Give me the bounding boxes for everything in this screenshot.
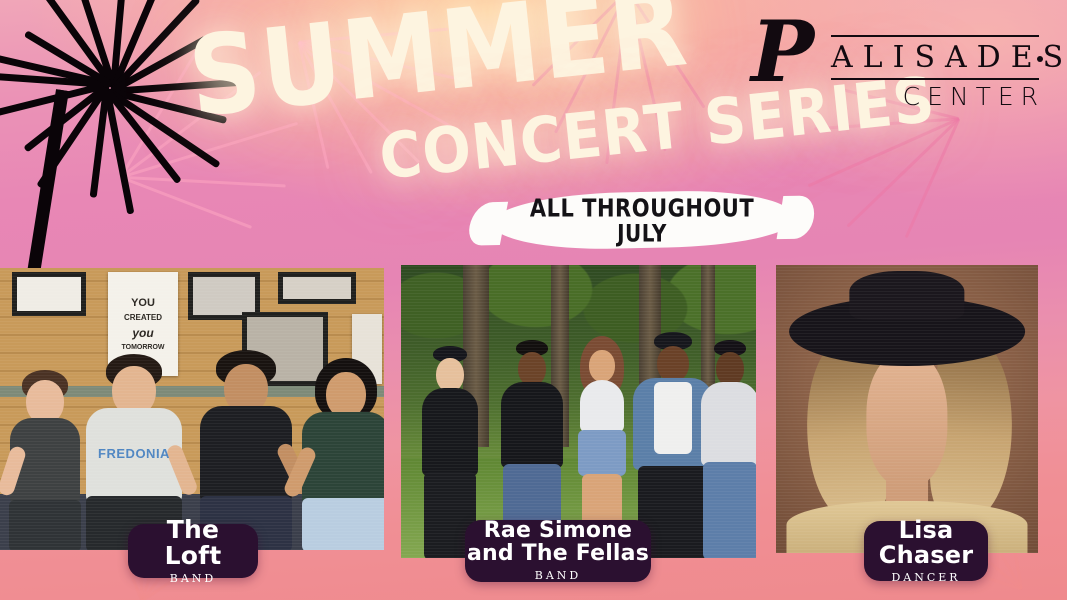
shirt-text: FREDONIA [98,446,170,461]
performer-role: BAND [170,572,216,585]
name-plate-lisa-chaser[interactable]: Lisa Chaser DANCER [864,521,988,581]
banner-line-2: JULY [617,218,667,246]
name-plate-the-loft[interactable]: The Loft BAND [128,524,258,578]
person-4 [300,358,384,550]
date-banner: ALL THROUGHOUT JULY [492,192,792,248]
frond-decor [1019,589,1020,590]
poster-line-3: you [132,326,153,340]
performer-name-line-2: Loft [165,541,222,570]
wall-frame [12,272,86,316]
performer-name: The Loft [165,517,222,568]
logo-subword: CENTER [903,82,1045,111]
photo-portrait-scene [776,265,1038,553]
performer-name: Lisa Chaser [879,518,974,567]
wall-frame [278,272,356,304]
person-1 [6,370,84,550]
poster-line-1: YOU [131,297,155,309]
logo-rule-bottom [831,78,1039,80]
performer-role: DANCER [891,571,960,584]
date-banner-text: ALL THROUGHOUT JULY [492,192,792,248]
performer-name-line-1: Rae Simone [484,518,632,543]
performer-name: Rae Simone and The Fellas [467,520,649,565]
performer-role: BAND [535,569,581,582]
banner-line-1: ALL THROUGHOUT [530,193,754,221]
logo-rule-top [831,35,1039,37]
logo-dot [1037,56,1043,62]
summer-concert-series-poster: SUMMER CONCERT SERIES ALL THROUGHOUT JUL… [0,0,1067,600]
palisades-center-logo: P ALISADES CENTER [735,16,1045,108]
performer-name-line-2: Chaser [879,541,974,569]
logo-wordmark: ALISADES [831,40,1067,75]
performer-photo-lisa-chaser[interactable] [776,265,1038,553]
name-plate-rae-simone[interactable]: Rae Simone and The Fellas BAND [465,520,651,582]
photo-classroom-scene: YOU CREATED you TOMORROW [0,268,384,550]
poster-line-2: CREATED [124,313,162,322]
frond-decor [959,120,960,121]
face [866,351,947,486]
logo-script-p: P [751,10,814,94]
hat-crown [849,271,964,320]
performer-photo-the-loft[interactable]: YOU CREATED you TOMORROW [0,268,384,550]
performer-photo-rae-simone[interactable] [401,265,756,558]
performer-name-line-2: and The Fellas [467,541,649,566]
poster-line-4: TOMORROW [121,344,164,351]
band-member-5 [699,340,756,558]
photo-forest-scene [401,265,756,558]
